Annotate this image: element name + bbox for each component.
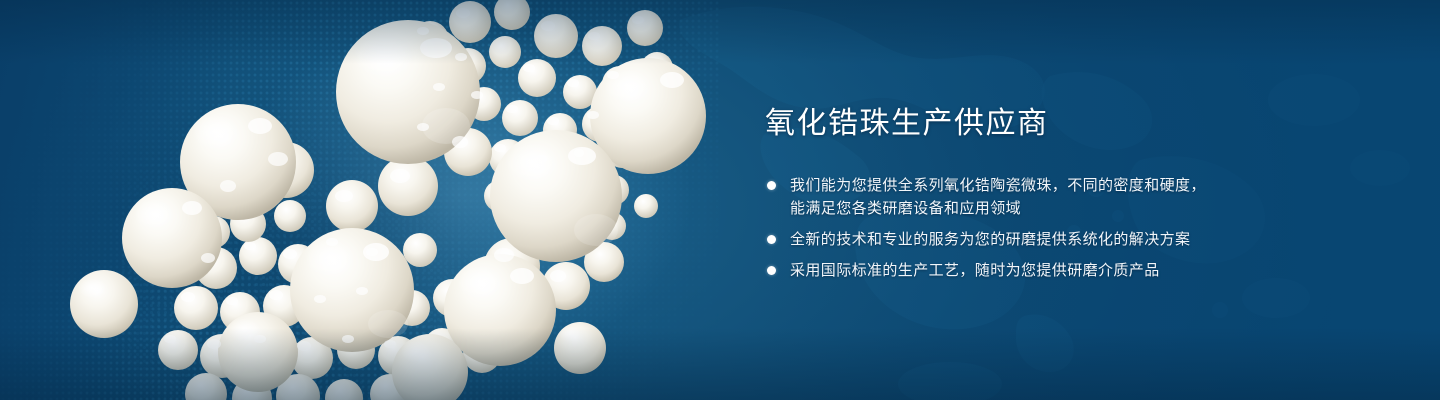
hero-banner: 氧化锆珠生产供应商 我们能为您提供全系列氧化锆陶瓷微珠，不同的密度和硬度， 能满… (0, 0, 1440, 400)
background-vignette (0, 0, 1440, 400)
